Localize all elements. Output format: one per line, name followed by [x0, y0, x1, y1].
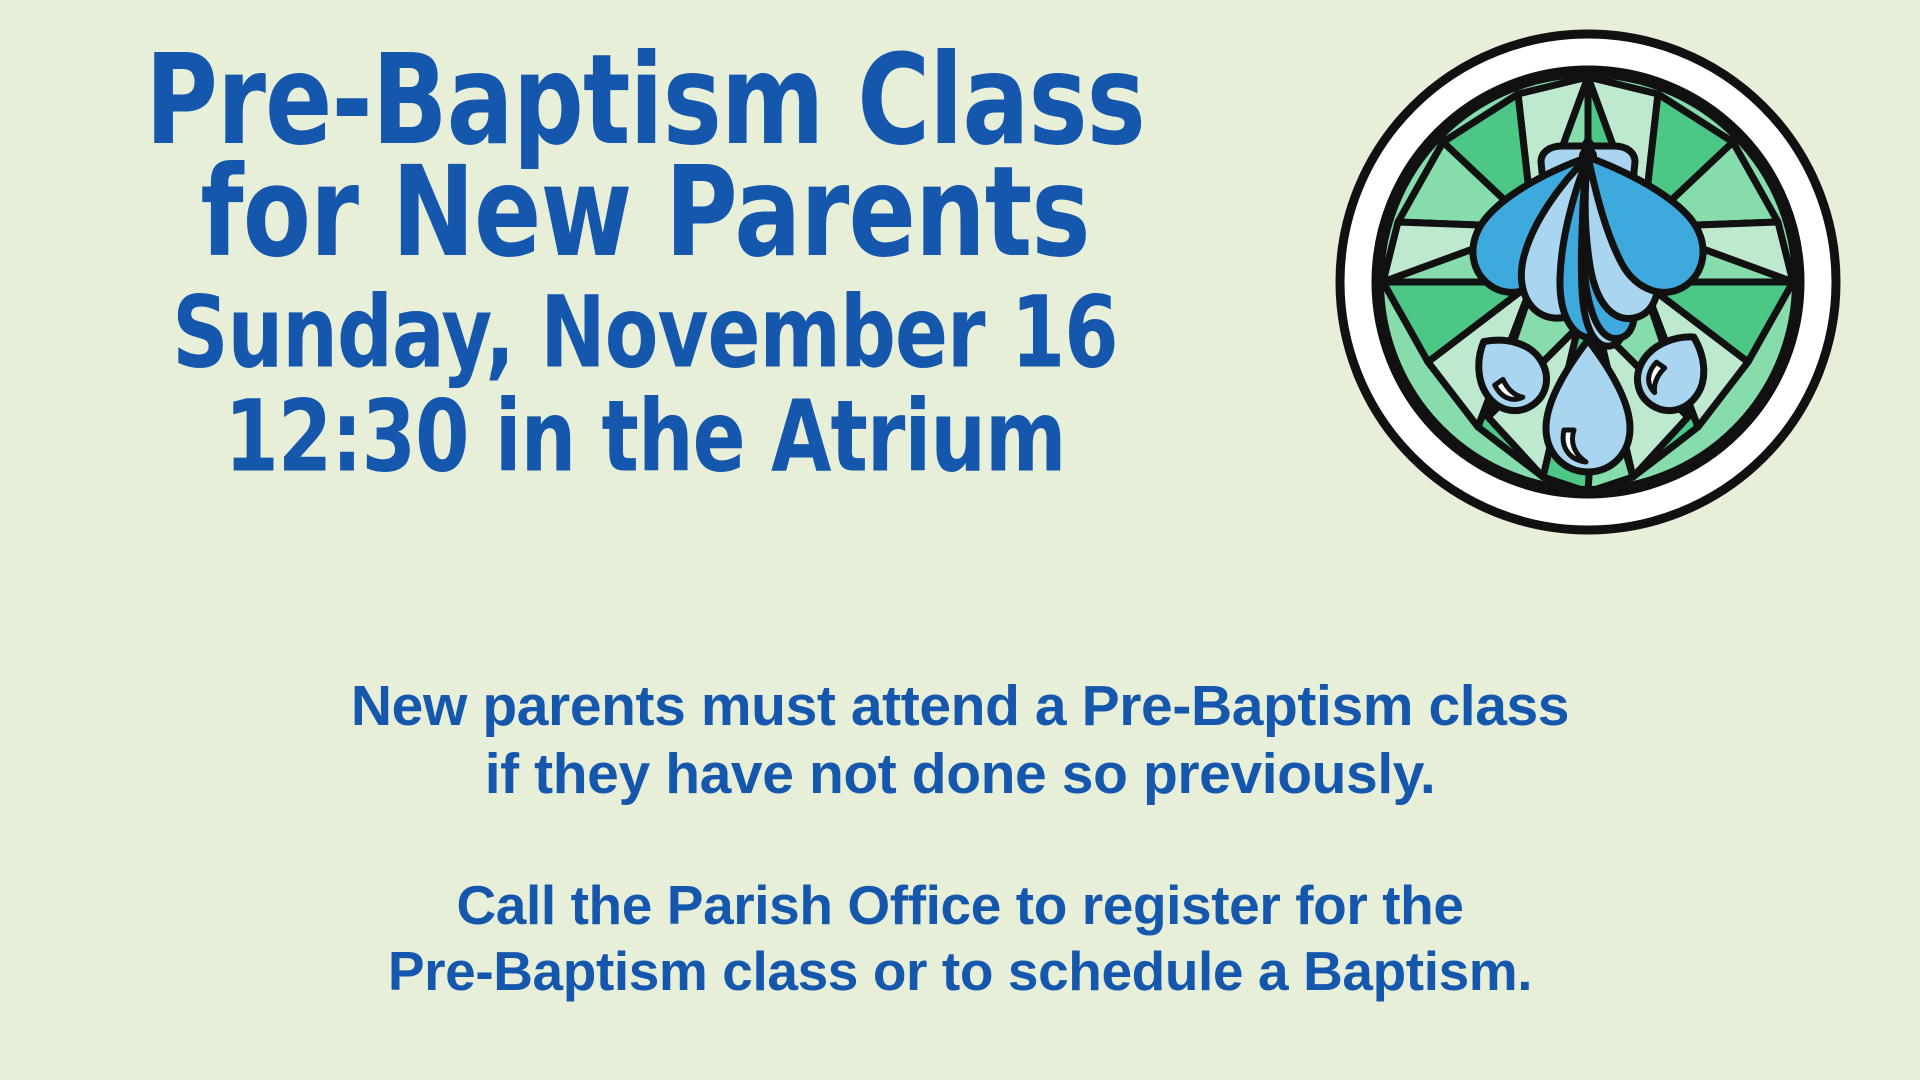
requirement-line-2: if they have not done so previously.: [0, 740, 1920, 808]
poster-canvas: Pre-Baptism Class for New Parents Sunday…: [0, 0, 1920, 1080]
stained-glass-window-icon: [1328, 22, 1848, 542]
requirement-paragraph: New parents must attend a Pre-Baptism cl…: [0, 672, 1920, 809]
register-line-1: Call the Parish Office to register for t…: [0, 872, 1920, 938]
headline-block: Pre-Baptism Class for New Parents Sunday…: [0, 40, 1290, 470]
headline-line-2: for New Parents: [52, 152, 1239, 275]
register-line-2: Pre-Baptism class or to schedule a Bapti…: [0, 938, 1920, 1004]
event-time-location-line: 12:30 in the Atrium: [45, 388, 1245, 485]
event-date-line: Sunday, November 16: [45, 284, 1245, 381]
requirement-line-1: New parents must attend a Pre-Baptism cl…: [0, 672, 1920, 740]
register-paragraph: Call the Parish Office to register for t…: [0, 872, 1920, 1004]
